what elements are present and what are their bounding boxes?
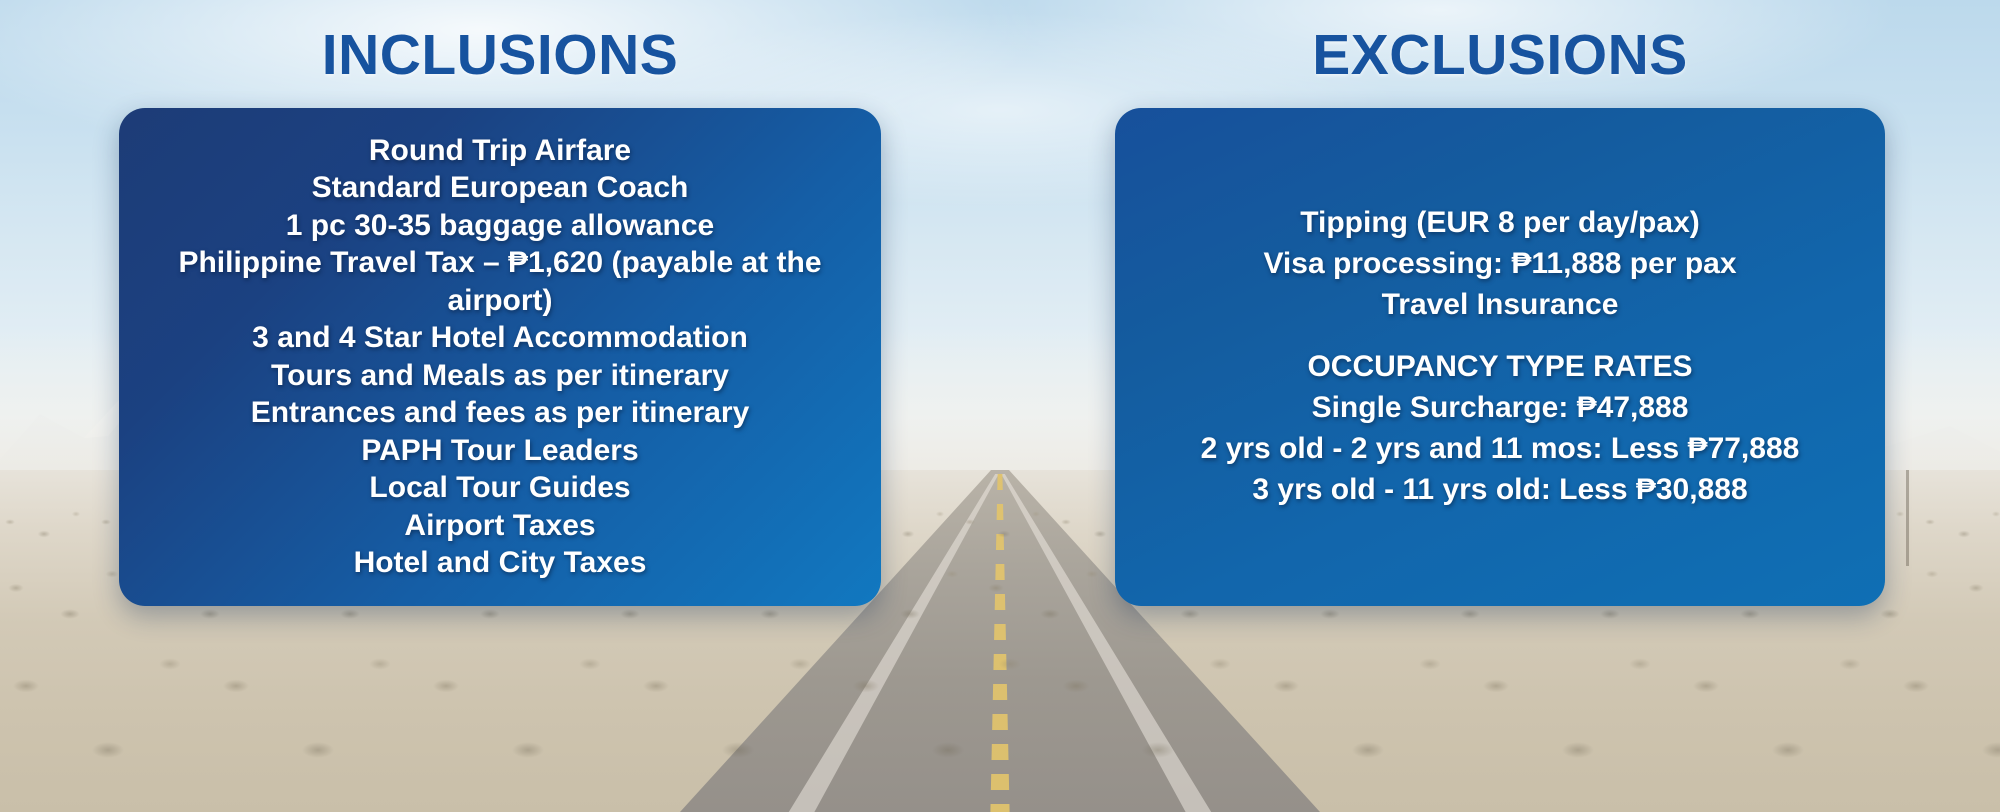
list-item: 1 pc 30-35 baggage allowance: [141, 207, 859, 245]
infographic-canvas: INCLUSIONS Round Trip Airfare Standard E…: [0, 0, 2000, 812]
list-item: 2 yrs old - 2 yrs and 11 mos: Less ₱77,8…: [1137, 429, 1863, 470]
inclusions-column: INCLUSIONS Round Trip Airfare Standard E…: [0, 0, 1000, 812]
list-spacer: [1137, 325, 1863, 347]
list-item: Local Tour Guides: [141, 469, 859, 507]
exclusions-list: Tipping (EUR 8 per day/pax) Visa process…: [1137, 203, 1863, 511]
inclusions-list: Round Trip Airfare Standard European Coa…: [141, 132, 859, 582]
exclusions-column: EXCLUSIONS Tipping (EUR 8 per day/pax) V…: [1000, 0, 2000, 812]
exclusions-card: Tipping (EUR 8 per day/pax) Visa process…: [1115, 108, 1885, 606]
list-item: 3 yrs old - 11 yrs old: Less ₱30,888: [1137, 470, 1863, 511]
exclusions-title: EXCLUSIONS: [1312, 26, 1688, 86]
list-item: Entrances and fees as per itinerary: [141, 394, 859, 432]
list-item: Standard European Coach: [141, 169, 859, 207]
content-layer: INCLUSIONS Round Trip Airfare Standard E…: [0, 0, 2000, 812]
list-item: Visa processing: ₱11,888 per pax: [1137, 244, 1863, 285]
list-item: Tipping (EUR 8 per day/pax): [1137, 203, 1863, 244]
list-item: Philippine Travel Tax – ₱1,620 (payable …: [141, 244, 859, 319]
list-item: Airport Taxes: [141, 507, 859, 545]
list-item: PAPH Tour Leaders: [141, 432, 859, 470]
list-item: Single Surcharge: ₱47,888: [1137, 388, 1863, 429]
inclusions-card: Round Trip Airfare Standard European Coa…: [119, 108, 881, 606]
inclusions-title: INCLUSIONS: [322, 26, 679, 86]
occupancy-rates-heading: OCCUPANCY TYPE RATES: [1137, 347, 1863, 388]
list-item: Tours and Meals as per itinerary: [141, 357, 859, 395]
list-item: Round Trip Airfare: [141, 132, 859, 170]
list-item: Hotel and City Taxes: [141, 544, 859, 582]
two-column-layout: INCLUSIONS Round Trip Airfare Standard E…: [0, 0, 2000, 812]
list-item: 3 and 4 Star Hotel Accommodation: [141, 319, 859, 357]
list-item: Travel Insurance: [1137, 285, 1863, 326]
